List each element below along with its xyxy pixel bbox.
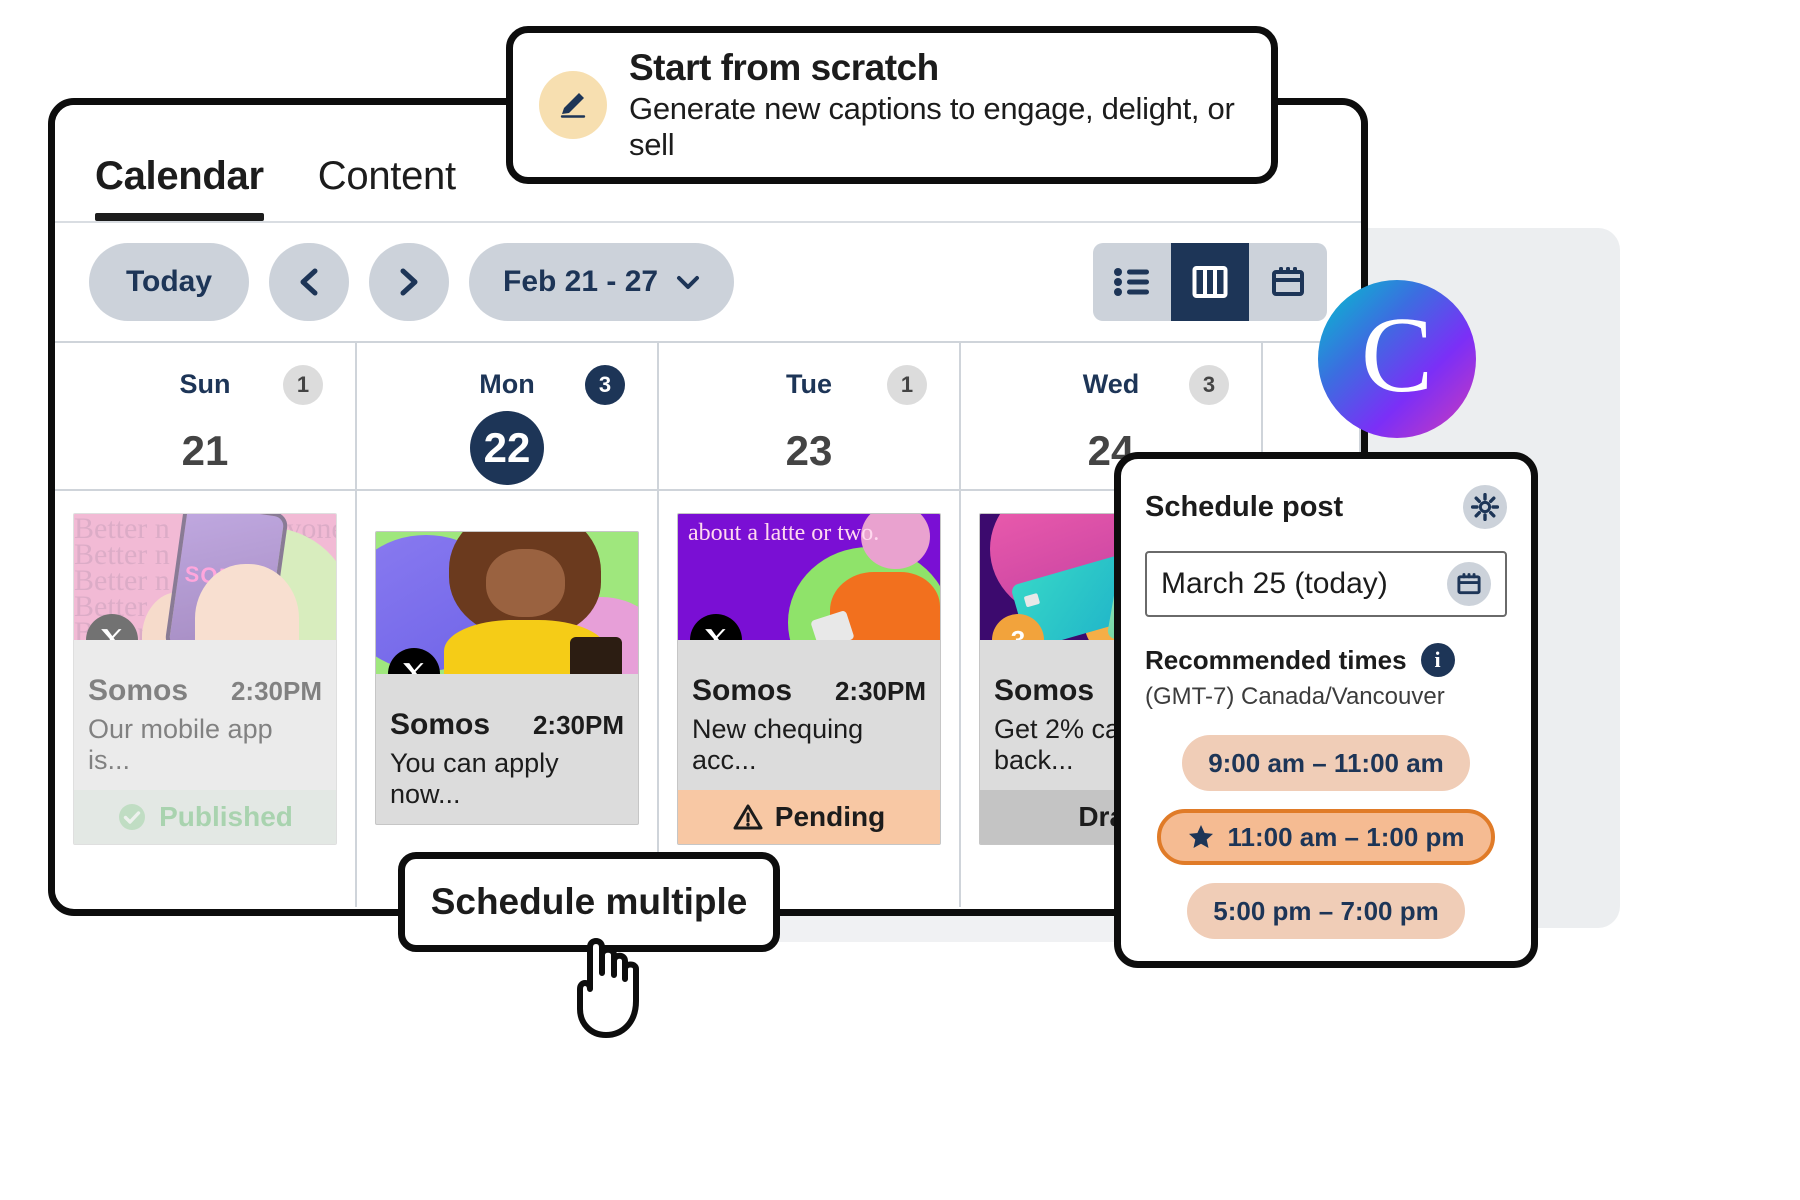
post-card[interactable]: Better n for everyoneBetter n r everyoBe… bbox=[73, 513, 337, 845]
art-shape-chip bbox=[1023, 593, 1039, 607]
day-cards-sun: Better n for everyoneBetter n r everyoBe… bbox=[55, 491, 355, 845]
x-logo-glyph bbox=[99, 627, 125, 640]
schedule-date-field[interactable]: March 25 (today) bbox=[1145, 551, 1507, 617]
chevron-down-icon bbox=[676, 275, 700, 290]
view-toggle-month[interactable] bbox=[1249, 243, 1327, 321]
post-excerpt: You can apply now... bbox=[376, 748, 638, 824]
pencil-icon bbox=[539, 71, 607, 139]
post-account-name: Somos bbox=[390, 708, 490, 742]
day-count-mon: 3 bbox=[585, 365, 625, 405]
day-header-tue: Tue 1 23 bbox=[659, 343, 959, 491]
pointer-hand-glyph bbox=[560, 925, 656, 1045]
day-header-mon: Mon 3 22 bbox=[357, 343, 657, 491]
list-icon bbox=[1113, 266, 1151, 298]
day-cards-tue: about a latte or two. Somos 2:30PM bbox=[659, 491, 959, 845]
screenshot-root: Calendar Content Today Feb 21 - 27 bbox=[0, 0, 1800, 1200]
post-thumbnail: about a latte or two. bbox=[678, 514, 940, 640]
post-card[interactable]: about a latte or two. Somos 2:30PM bbox=[677, 513, 941, 845]
gear-icon[interactable] bbox=[1463, 485, 1507, 529]
status-label: Published bbox=[159, 801, 293, 833]
date-range-label: Feb 21 - 27 bbox=[503, 265, 658, 299]
art-caption-text: about a latte or two. bbox=[688, 520, 879, 547]
canva-logo: C bbox=[1318, 280, 1476, 438]
art-shape-cup bbox=[570, 637, 622, 674]
pencil-glyph bbox=[556, 88, 590, 122]
schedule-date-value: March 25 (today) bbox=[1161, 567, 1388, 601]
time-slot-label: 11:00 am – 1:00 pm bbox=[1227, 822, 1464, 853]
time-slot-chip[interactable]: 9:00 am – 11:00 am bbox=[1182, 735, 1470, 791]
calendar-icon bbox=[1270, 264, 1306, 300]
post-meta: Somos 2:30PM bbox=[74, 640, 336, 714]
recommended-times-label: Recommended times bbox=[1145, 645, 1407, 676]
post-card[interactable]: Somos 2:30PM You can apply now... bbox=[375, 531, 639, 825]
calendar-icon[interactable] bbox=[1447, 562, 1491, 606]
timezone-label: (GMT-7) Canada/Vancouver bbox=[1145, 683, 1507, 711]
day-column-sun: Sun 1 21 Better n for everyoneBetter n r… bbox=[55, 343, 357, 907]
today-button[interactable]: Today bbox=[89, 243, 249, 321]
day-count-wed: 3 bbox=[1189, 365, 1229, 405]
today-button-label: Today bbox=[126, 265, 212, 299]
count-badge-label: 3 bbox=[1011, 625, 1025, 641]
start-from-scratch-card[interactable]: Start from scratch Generate new captions… bbox=[506, 26, 1278, 184]
day-column-tue: Tue 1 23 about a latte or two. bbox=[659, 343, 961, 907]
day-column-mon: Mon 3 22 bbox=[357, 343, 659, 907]
post-account-name: Somos bbox=[994, 674, 1094, 708]
post-time: 2:30PM bbox=[533, 710, 624, 741]
time-slot-chip-selected[interactable]: 11:00 am – 1:00 pm bbox=[1157, 809, 1494, 865]
post-account-name: Somos bbox=[88, 674, 188, 708]
x-logo-glyph bbox=[703, 627, 729, 640]
columns-icon bbox=[1192, 265, 1228, 299]
chevron-left-icon bbox=[296, 266, 322, 298]
tab-content-label: Content bbox=[318, 154, 456, 198]
info-icon[interactable]: i bbox=[1421, 643, 1455, 677]
warning-triangle-icon bbox=[733, 803, 763, 831]
calendar-glyph bbox=[1456, 571, 1482, 597]
post-thumbnail bbox=[376, 532, 638, 674]
time-slot-chip[interactable]: 5:00 pm – 7:00 pm bbox=[1187, 883, 1464, 939]
status-badge-published: Published bbox=[74, 790, 336, 844]
status-badge-pending: Pending bbox=[678, 790, 940, 844]
prev-week-button[interactable] bbox=[269, 243, 349, 321]
day-count-tue: 1 bbox=[887, 365, 927, 405]
day-cards-mon: Somos 2:30PM You can apply now... bbox=[357, 491, 657, 825]
post-time: 2:30PM bbox=[835, 676, 926, 707]
status-label: Pending bbox=[775, 801, 885, 833]
tab-calendar[interactable]: Calendar bbox=[95, 154, 264, 221]
day-number-mon: 22 bbox=[357, 411, 657, 485]
canva-logo-letter: C bbox=[1361, 302, 1433, 410]
schedule-multiple-label: Schedule multiple bbox=[431, 881, 748, 923]
day-number-tue: 23 bbox=[659, 427, 959, 475]
post-meta: Somos 2:30PM bbox=[678, 640, 940, 714]
tab-calendar-label: Calendar bbox=[95, 154, 264, 198]
post-excerpt: New chequing acc... bbox=[678, 714, 940, 790]
next-week-button[interactable] bbox=[369, 243, 449, 321]
time-slot-label: 5:00 pm – 7:00 pm bbox=[1213, 896, 1438, 927]
start-from-scratch-text: Start from scratch Generate new captions… bbox=[629, 47, 1245, 163]
schedule-post-panel: Schedule post bbox=[1114, 452, 1538, 968]
art-shape-face bbox=[486, 549, 565, 617]
chevron-right-icon bbox=[396, 266, 422, 298]
post-excerpt: Our mobile app is... bbox=[74, 714, 336, 790]
day-number-today-badge: 22 bbox=[470, 411, 544, 485]
view-toggle-list[interactable] bbox=[1093, 243, 1171, 321]
x-logo-glyph bbox=[401, 661, 427, 674]
date-range-selector[interactable]: Feb 21 - 27 bbox=[469, 243, 734, 321]
view-toggle-group bbox=[1093, 243, 1327, 321]
recommended-times-list: 9:00 am – 11:00 am 11:00 am – 1:00 pm 5:… bbox=[1145, 735, 1507, 939]
star-icon bbox=[1187, 823, 1215, 851]
recommended-times-header: Recommended times i bbox=[1145, 643, 1507, 677]
post-time: 2:30PM bbox=[231, 676, 322, 707]
start-from-scratch-subtitle: Generate new captions to engage, delight… bbox=[629, 91, 1245, 163]
post-meta: Somos 2:30PM bbox=[376, 674, 638, 748]
view-toggle-board[interactable] bbox=[1171, 243, 1249, 321]
day-header-sun: Sun 1 21 bbox=[55, 343, 355, 491]
check-circle-icon bbox=[117, 802, 147, 832]
time-slot-label: 9:00 am – 11:00 am bbox=[1208, 748, 1444, 779]
gear-glyph bbox=[1471, 493, 1499, 521]
schedule-post-title: Schedule post bbox=[1145, 491, 1343, 524]
tab-content[interactable]: Content bbox=[318, 154, 456, 221]
calendar-toolbar: Today Feb 21 - 27 bbox=[55, 223, 1361, 343]
post-thumbnail: Better n for everyoneBetter n r everyoBe… bbox=[74, 514, 336, 640]
post-account-name: Somos bbox=[692, 674, 792, 708]
start-from-scratch-title: Start from scratch bbox=[629, 47, 1245, 89]
schedule-post-header: Schedule post bbox=[1145, 485, 1507, 529]
day-number-sun: 21 bbox=[55, 427, 355, 475]
day-count-sun: 1 bbox=[283, 365, 323, 405]
pointer-hand-cursor bbox=[560, 925, 656, 1050]
